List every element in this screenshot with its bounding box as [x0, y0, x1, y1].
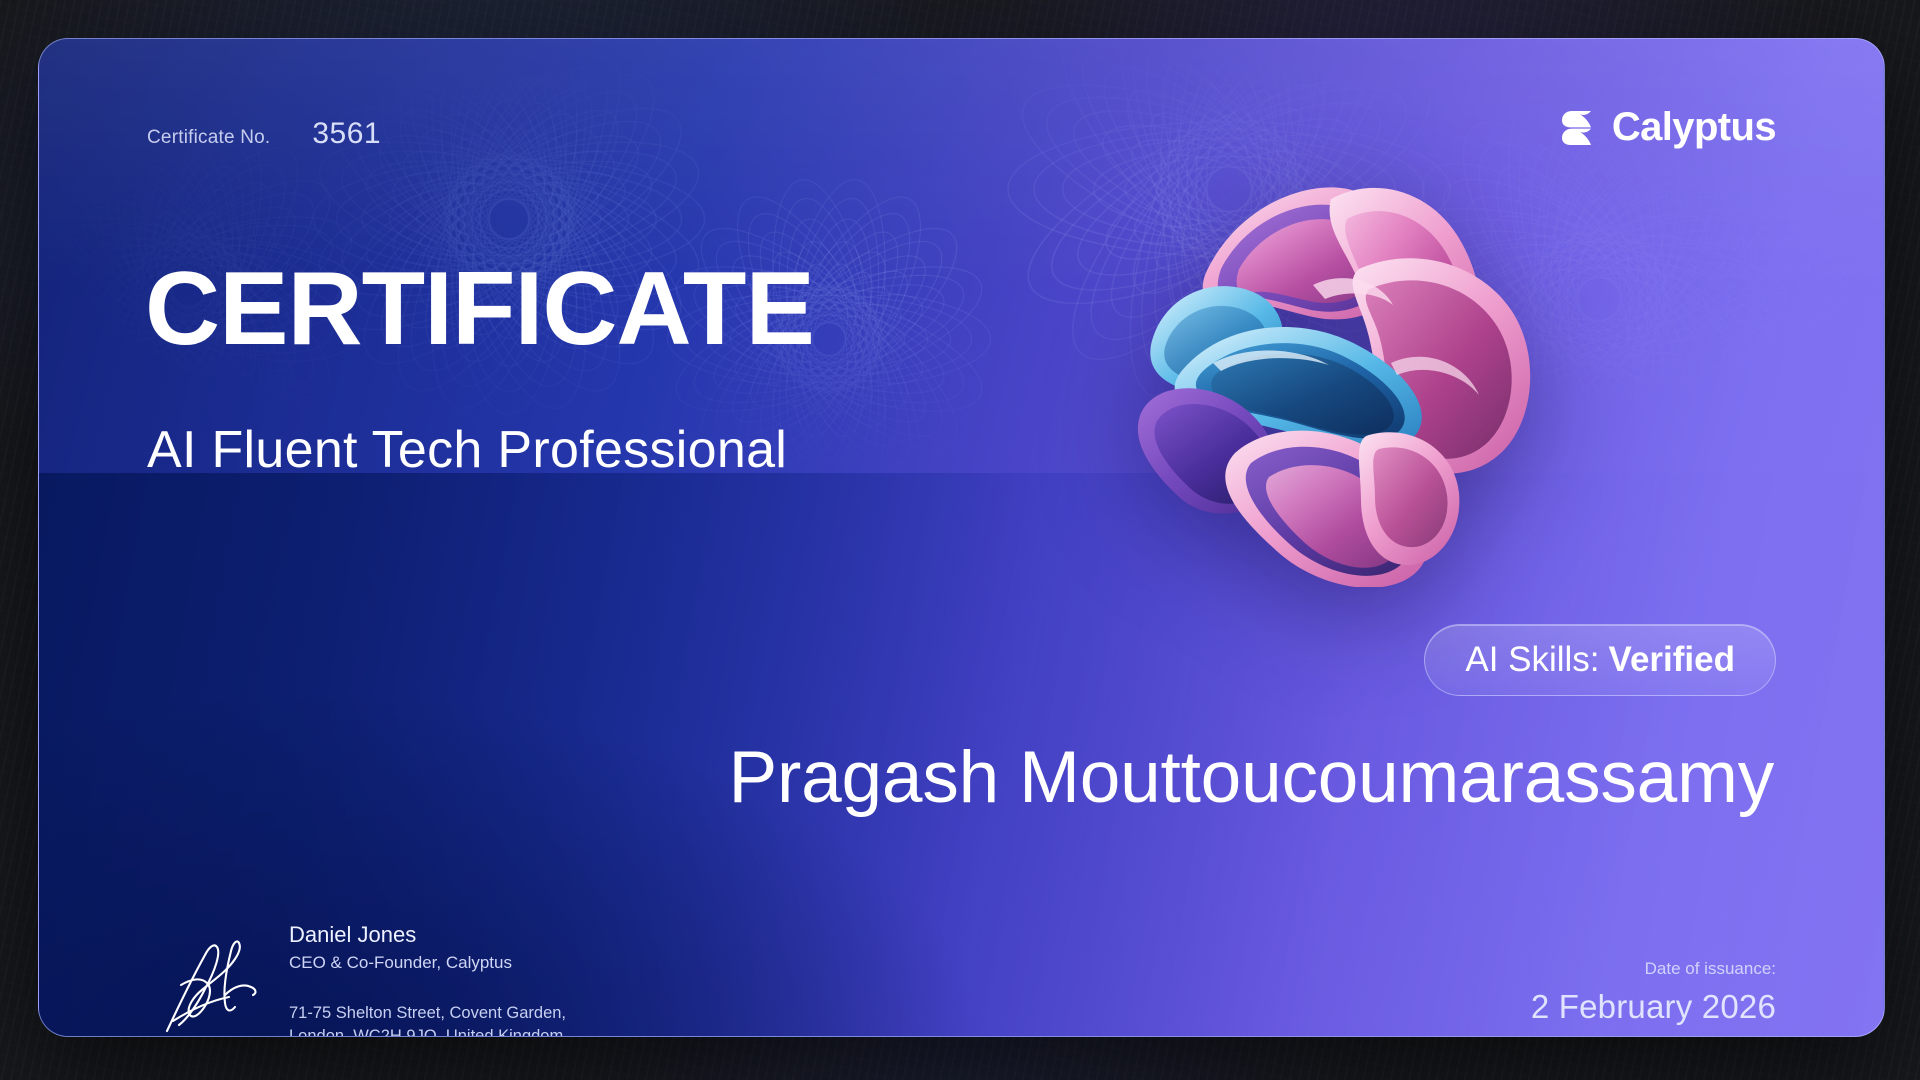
company-address: 71-75 Shelton Street, Covent Garden, Lon…: [289, 1002, 566, 1037]
page-title: CERTIFICATE: [145, 257, 814, 361]
calyptus-wordmark: Calyptus: [1612, 105, 1776, 150]
certificate-number: Certificate No. 3561: [147, 117, 381, 151]
certificate-number-label: Certificate No.: [147, 127, 270, 149]
recipient-name: Pragash Mouttoucoumarassamy: [729, 739, 1774, 818]
calyptus-leaf-mark: [1561, 110, 1595, 146]
certificate-subtitle: AI Fluent Tech Professional: [147, 424, 787, 476]
status-badge: AI Skills: Verified: [1424, 624, 1776, 696]
handwritten-signature-icon: [151, 925, 267, 1037]
certificate-card: Certificate No. 3561 Calyptus CERTIFICAT…: [38, 38, 1885, 1037]
company-address-line-1: 71-75 Shelton Street, Covent Garden,: [289, 1002, 566, 1026]
signatory-name: Daniel Jones: [289, 921, 566, 950]
company-address-line-2: London, WC2H 9JQ, United Kingdom: [289, 1025, 566, 1037]
status-badge-value: Verified: [1609, 640, 1735, 680]
calyptus-logo[interactable]: Calyptus: [1561, 105, 1776, 150]
certificate-number-value: 3561: [312, 117, 381, 151]
issuance-block: Date of issuance: 2 February 2026: [1531, 957, 1776, 1026]
status-badge-label: AI Skills:: [1465, 640, 1599, 680]
signatory-role: CEO & Co-Founder, Calyptus: [289, 952, 566, 975]
issuance-label: Date of issuance:: [1531, 957, 1776, 981]
signature-block: Daniel Jones CEO & Co-Founder, Calyptus …: [151, 915, 566, 1037]
issuance-date: 2 February 2026: [1531, 988, 1776, 1026]
